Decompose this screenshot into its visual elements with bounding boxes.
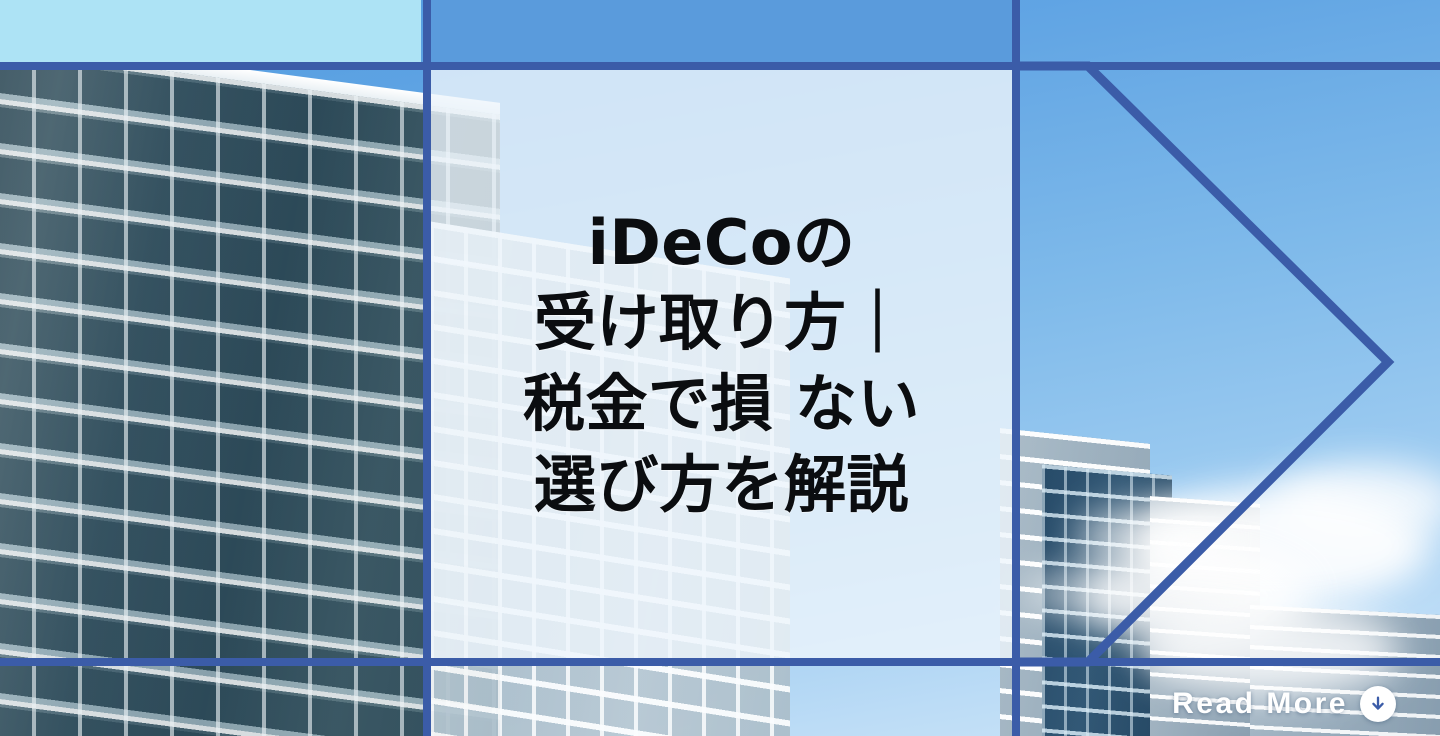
page-title: iDeCoの 受け取り方｜ 税金で損 ない 選び方を解説 (523, 203, 920, 525)
read-more-button[interactable]: Read More (1172, 686, 1396, 722)
read-more-label: Read More (1172, 687, 1348, 721)
title-line-1: iDeCoの (523, 203, 920, 284)
frame-rule-horizontal-bottom (0, 658, 1440, 666)
frame-rule-vertical-right (1012, 0, 1020, 736)
accent-swatch-blue (431, 0, 1012, 62)
thumbnail-card: iDeCoの 受け取り方｜ 税金で損 ない 選び方を解説 Read More (0, 0, 1440, 736)
title-line-2: 受け取り方｜ (523, 283, 920, 364)
arrow-down-circle-icon[interactable] (1360, 686, 1396, 722)
title-card: iDeCoの 受け取り方｜ 税金で損 ない 選び方を解説 (431, 70, 1012, 658)
title-line-3: 税金で損 ない (523, 364, 920, 445)
frame-rule-vertical-left (423, 0, 431, 736)
cloud (1140, 606, 1400, 696)
frame-rule-horizontal-top (0, 62, 1440, 70)
title-line-4: 選び方を解説 (523, 445, 920, 526)
accent-swatch-cyan (0, 0, 421, 62)
